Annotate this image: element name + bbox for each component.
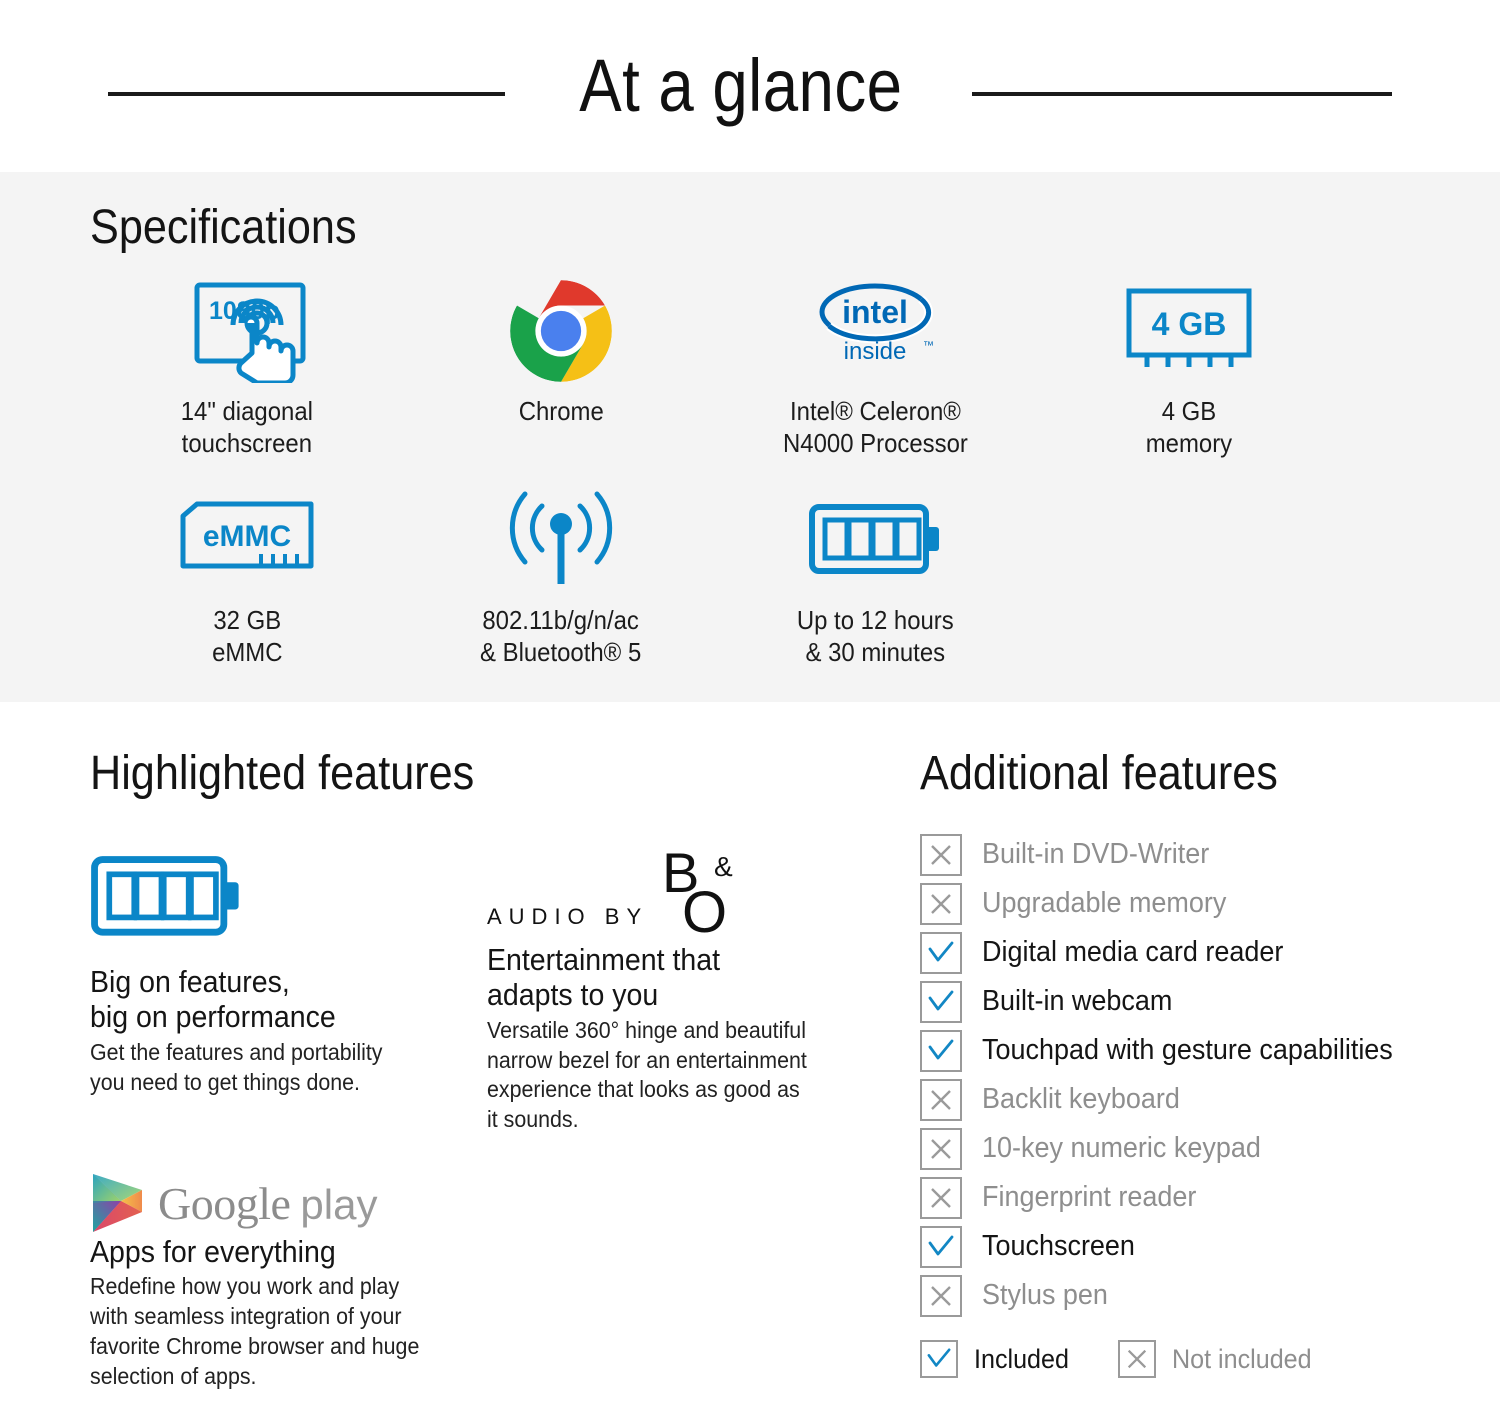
feature-body: Versatile 360° hinge and beautiful narro… — [487, 1016, 813, 1136]
close-icon — [920, 883, 962, 925]
spec-item-touchscreen: 1080p 14" diagonal touchscreen — [90, 276, 404, 459]
check-icon — [920, 1340, 958, 1378]
play-triangle-icon — [90, 1172, 146, 1234]
close-icon — [920, 1275, 962, 1317]
spec-item-empty — [1032, 485, 1346, 668]
legend-not-included-label: Not included — [1172, 1346, 1312, 1373]
lower-section: Highlighted features Additional features… — [0, 702, 1500, 1407]
feature-label: Touchpad with gesture capabilities — [982, 1036, 1393, 1065]
specifications-title: Specifications — [90, 204, 357, 252]
spec-item-chrome: Chrome — [404, 276, 718, 459]
feature-heading: Big on features, big on performance — [90, 964, 440, 1035]
spec-label: Chrome — [518, 396, 603, 428]
spec-item-battery: Up to 12 hours & 30 minutes — [718, 485, 1032, 668]
spec-label: 14" diagonal touchscreen — [181, 396, 313, 459]
page-title: At a glance — [579, 49, 902, 123]
bang-olufsen-logo-icon: AUDIO BY B & O — [487, 850, 837, 942]
page-header: At a glance — [0, 0, 1500, 172]
spec-item-memory: 4 GB 4 GB memory — [1032, 276, 1346, 459]
feature-label: 10-key numeric keypad — [982, 1134, 1261, 1163]
spec-item-wireless: 802.11b/g/n/ac & Bluetooth® 5 — [404, 485, 718, 668]
close-icon — [920, 1128, 962, 1170]
features-legend: Included Not included — [920, 1340, 1322, 1378]
feature-heading: Entertainment that adapts to you — [487, 942, 809, 1013]
close-icon — [920, 1177, 962, 1219]
intel-inside-logo-icon: intel inside ™ — [795, 276, 955, 386]
play-word: play — [300, 1181, 377, 1229]
battery-icon — [808, 485, 942, 595]
spec-label: 802.11b/g/n/ac & Bluetooth® 5 — [480, 605, 641, 668]
highlighted-feature-battery: Big on features, big on performance Get … — [90, 850, 470, 1097]
check-icon — [920, 932, 962, 974]
spec-item-processor: intel inside ™ Intel® Celeron® N4000 Pro… — [718, 276, 1032, 459]
highlighted-feature-google-play: Google play Apps for everything Redefine… — [90, 1172, 470, 1392]
svg-text:O: O — [682, 880, 727, 938]
specifications-panel: Specifications 1080p — [0, 172, 1500, 702]
check-icon — [920, 1226, 962, 1268]
feature-row-numeric-keypad: 10-key numeric keypad — [920, 1124, 1480, 1173]
chrome-logo-icon — [508, 276, 614, 386]
close-icon — [1118, 1340, 1156, 1378]
memory-module-icon: 4 GB — [1124, 276, 1254, 386]
at-a-glance-infographic: At a glance Specifications 1080p — [0, 0, 1500, 1407]
check-icon — [920, 1030, 962, 1072]
additional-features-list: Built-in DVD-Writer Upgradable memory Di… — [920, 830, 1480, 1320]
touchscreen-display-icon: 1080p — [181, 276, 313, 386]
feature-row-touchpad: Touchpad with gesture capabilities — [920, 1026, 1480, 1075]
google-play-logo-icon: Google play — [90, 1172, 470, 1234]
feature-row-fingerprint-reader: Fingerprint reader — [920, 1173, 1480, 1222]
google-play-wordmark: Google play — [158, 1177, 377, 1230]
feature-row-card-reader: Digital media card reader — [920, 928, 1480, 977]
feature-label: Fingerprint reader — [982, 1183, 1196, 1212]
google-word: Google — [158, 1177, 290, 1230]
feature-row-touchscreen: Touchscreen — [920, 1222, 1480, 1271]
header-rule-right — [972, 92, 1392, 96]
spec-label: Intel® Celeron® N4000 Processor — [783, 396, 968, 459]
spec-item-storage: eMMC 32 GB eMMC — [90, 485, 404, 668]
feature-label: Touchscreen — [982, 1232, 1135, 1261]
feature-label: Upgradable memory — [982, 889, 1226, 918]
additional-features-title: Additional features — [920, 750, 1278, 798]
specifications-row-2: eMMC 32 GB eMMC — [90, 485, 1420, 668]
svg-text:&: & — [714, 851, 733, 882]
feature-label: Built-in DVD-Writer — [982, 840, 1209, 869]
wireless-signal-icon — [501, 485, 621, 595]
svg-text:eMMC: eMMC — [203, 520, 291, 553]
legend-included: Included — [920, 1340, 1076, 1378]
svg-text:intel: intel — [842, 294, 908, 330]
spec-label: 32 GB eMMC — [212, 605, 282, 668]
spec-label: Up to 12 hours & 30 minutes — [797, 605, 954, 668]
legend-not-included: Not included — [1118, 1340, 1322, 1378]
check-icon — [920, 981, 962, 1023]
highlighted-features-title: Highlighted features — [90, 750, 474, 798]
feature-row-webcam: Built-in webcam — [920, 977, 1480, 1026]
feature-label: Digital media card reader — [982, 938, 1283, 967]
svg-text:™: ™ — [923, 340, 934, 352]
legend-included-label: Included — [974, 1346, 1069, 1373]
close-icon — [920, 1079, 962, 1121]
spec-label: 4 GB memory — [1146, 396, 1232, 459]
feature-body: Get the features and portability you nee… — [90, 1038, 443, 1098]
feature-label: Stylus pen — [982, 1281, 1108, 1310]
close-icon — [920, 834, 962, 876]
svg-text:4 GB: 4 GB — [1152, 306, 1227, 342]
feature-label: Backlit keyboard — [982, 1085, 1180, 1114]
feature-row-dvd-writer: Built-in DVD-Writer — [920, 830, 1480, 879]
highlighted-feature-audio: AUDIO BY B & O Entertainment that adapts… — [487, 850, 837, 1135]
header-rule-left — [108, 92, 505, 96]
feature-row-stylus-pen: Stylus pen — [920, 1271, 1480, 1320]
feature-row-backlit-keyboard: Backlit keyboard — [920, 1075, 1480, 1124]
feature-label: Built-in webcam — [982, 987, 1172, 1016]
feature-heading: Apps for everything — [90, 1234, 440, 1269]
feature-row-upgradable-memory: Upgradable memory — [920, 879, 1480, 928]
audio-by-label: AUDIO BY — [487, 904, 648, 942]
battery-icon — [90, 850, 470, 948]
feature-body: Redefine how you work and play with seam… — [90, 1272, 443, 1392]
specifications-row-1: 1080p 14" diagonal touchscreen — [90, 276, 1420, 459]
bo-monogram-icon: B & O — [662, 846, 748, 942]
emmc-storage-icon: eMMC — [175, 485, 319, 595]
svg-text:inside: inside — [844, 338, 907, 365]
specifications-grid: 1080p 14" diagonal touchscreen — [90, 276, 1420, 669]
